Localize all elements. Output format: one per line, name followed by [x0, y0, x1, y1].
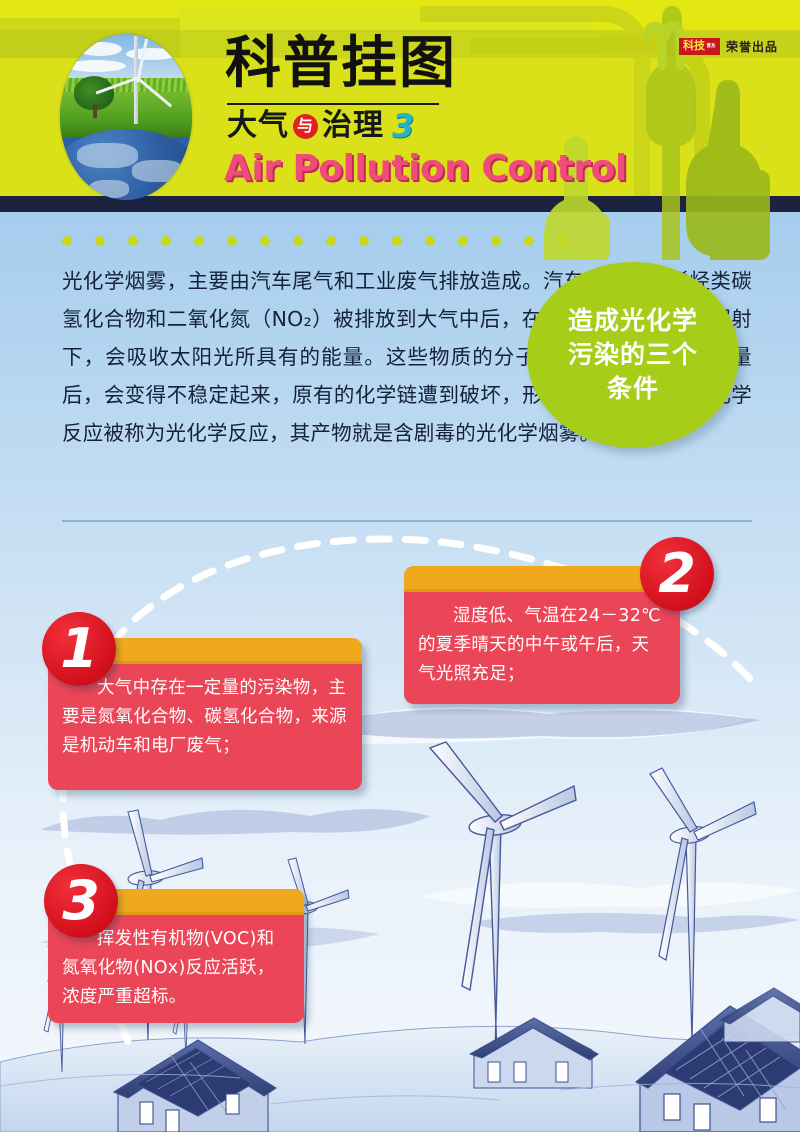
publisher-by-text: 荣誉出品 [726, 38, 778, 55]
publisher-credit: 科技 普及 荣誉出品 [679, 38, 778, 55]
callout-line-3: 条件 [568, 372, 698, 406]
subtitle-right: 治理 [322, 111, 384, 141]
callout-line-2: 污染的三个 [568, 338, 698, 372]
section-divider [62, 520, 752, 522]
title-divider [227, 103, 439, 105]
condition-badge-3: 3 [44, 864, 118, 938]
card-top-bar [404, 566, 680, 592]
condition-badge-1: 1 [42, 612, 116, 686]
dot-divider [62, 236, 567, 246]
poster-root: 科普挂图 大气 与 治理 3 Air Pollution Control 科技 … [0, 0, 800, 1132]
english-title: Air Pollution Control [224, 148, 627, 189]
subtitle-number: 3 [392, 110, 415, 142]
publisher-mark-subtext: 普及 [706, 44, 715, 49]
publisher-logo-badge: 科技 普及 [679, 38, 720, 54]
callout-text: 造成光化学 污染的三个 条件 [568, 304, 698, 406]
subtitle-circle-char: 与 [293, 114, 318, 139]
subtitle-left: 大气 [227, 111, 289, 141]
callout-circle: 造成光化学 污染的三个 条件 [527, 262, 739, 448]
subtitle: 大气 与 治理 3 [227, 110, 415, 142]
condition-badge-2: 2 [640, 537, 714, 611]
callout-line-1: 造成光化学 [568, 304, 698, 338]
condition-card-2: 湿度低、气温在24－32℃的夏季晴天的中午或午后，天气光照充足； [404, 566, 680, 704]
earth-grass-logo [60, 34, 192, 200]
publisher-mark-text: 科技 [683, 40, 705, 52]
condition-card-2-text: 湿度低、气温在24－32℃的夏季晴天的中午或午后，天气光照充足； [404, 592, 680, 703]
page-title: 科普挂图 [225, 36, 457, 92]
tree-icon [74, 76, 114, 110]
